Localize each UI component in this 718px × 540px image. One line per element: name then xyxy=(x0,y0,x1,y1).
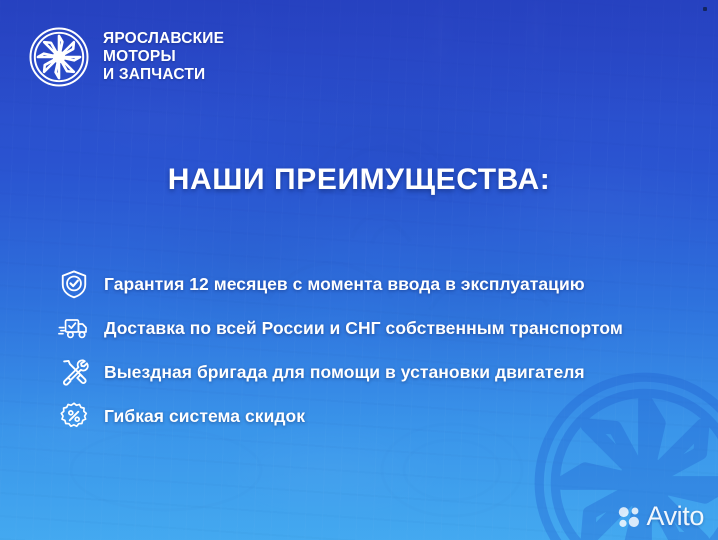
brand-name-line-2: МОТОРЫ xyxy=(103,48,224,66)
avito-dots-icon xyxy=(617,505,641,529)
list-item-label: Выездная бригада для помощи в установки … xyxy=(104,362,585,383)
brand-name-line-3: И ЗАПЧАСТИ xyxy=(103,66,224,84)
list-item: Выездная бригада для помощи в установки … xyxy=(58,350,698,394)
avito-label: Avito xyxy=(646,503,704,530)
brand-logo: ЯРОСЛАВСКИЕ МОТОРЫ И ЗАПЧАСТИ xyxy=(28,26,224,88)
brand-name: ЯРОСЛАВСКИЕ МОТОРЫ И ЗАПЧАСТИ xyxy=(103,30,224,84)
avito-watermark: Avito xyxy=(617,503,704,530)
promo-poster: ЯРОСЛАВСКИЕ МОТОРЫ И ЗАПЧАСТИ НАШИ ПРЕИМ… xyxy=(0,0,718,540)
page-title: НАШИ ПРЕИМУЩЕСТВА: xyxy=(0,163,718,197)
delivery-truck-check-icon xyxy=(58,312,90,344)
list-item-label: Гибкая система скидок xyxy=(104,406,305,427)
list-item-label: Гарантия 12 месяцев с момента ввода в эк… xyxy=(104,274,585,295)
list-item: Гибкая система скидок xyxy=(58,394,698,438)
percent-badge-icon xyxy=(58,400,90,432)
wrench-screwdriver-icon xyxy=(58,356,90,388)
brand-name-line-1: ЯРОСЛАВСКИЕ xyxy=(103,30,224,48)
wheel-emblem-icon xyxy=(28,26,90,88)
shield-check-icon xyxy=(58,268,90,300)
list-item: Доставка по всей России и СНГ собственны… xyxy=(58,306,698,350)
benefits-list: Гарантия 12 месяцев с момента ввода в эк… xyxy=(58,262,698,438)
list-item-label: Доставка по всей России и СНГ собственны… xyxy=(104,318,623,339)
corner-marker xyxy=(703,7,707,11)
list-item: Гарантия 12 месяцев с момента ввода в эк… xyxy=(58,262,698,306)
